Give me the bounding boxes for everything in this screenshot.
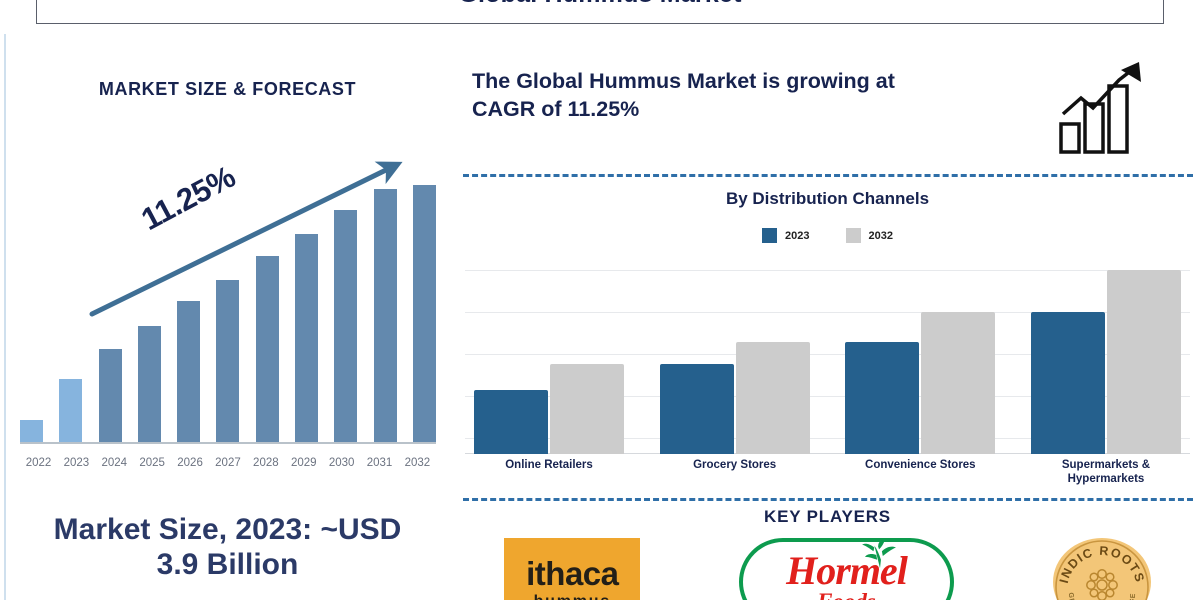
bar-convenience-stores-2032 (921, 312, 995, 454)
indic-roots-logo-box: INDIC ROOTS GREAT TASTE HERITAGE (1053, 538, 1151, 600)
x-label-convenience-stores: Convenience Stores (836, 458, 1004, 487)
bar-group-convenience-stores (836, 312, 1004, 454)
ithaca-logo-line2: hummus (534, 593, 611, 600)
divider-bottom (463, 498, 1193, 501)
x-label-2029: 2029 (285, 457, 322, 469)
infographic-page: Global Hummus Market MARKET SIZE & FOREC… (0, 0, 1200, 600)
x-label-2022: 2022 (20, 457, 57, 469)
parsley-leaf-icon (861, 540, 899, 570)
x-label-2032: 2032 (399, 457, 436, 469)
legend-swatch-2032 (846, 228, 861, 243)
ithaca-logo-line1: ithaca (526, 557, 618, 590)
bar-2024 (99, 349, 122, 442)
x-label-2028: 2028 (247, 457, 284, 469)
market-size-panel: MARKET SIZE & FORECAST 11.25% (0, 26, 455, 600)
key-players-title: KEY PLAYERS (455, 507, 1200, 527)
divider-top (463, 174, 1193, 177)
bar-chart-growth-icon (1055, 58, 1155, 158)
right-panel: The Global Hummus Market is growing at C… (455, 26, 1200, 600)
legend-label-2023: 2023 (785, 230, 809, 242)
page-title: Global Hummus Market (458, 0, 741, 9)
x-label-2031: 2031 (361, 457, 398, 469)
bar-convenience-stores-2023 (845, 342, 919, 454)
legend-item-2032: 2032 (846, 228, 893, 243)
market-size-bars (20, 146, 436, 442)
market-size-heading: MARKET SIZE & FORECAST (0, 79, 455, 100)
indic-roots-logo: INDIC ROOTS GREAT TASTE HERITAGE (1053, 538, 1151, 600)
x-label-2027: 2027 (209, 457, 246, 469)
bar-2026 (177, 301, 200, 442)
bar-grocery-stores-2023 (660, 364, 734, 454)
legend-item-2023: 2023 (762, 228, 809, 243)
hormel-logo-line2: Foods (817, 590, 876, 600)
bar-online-retailers-2032 (550, 364, 624, 454)
ithaca-hummus-logo: ithaca hummus (504, 538, 640, 600)
bar-supermarkets-2023 (1031, 312, 1105, 454)
svg-text:GREAT TASTE HERITAGE: GREAT TASTE HERITAGE (1067, 592, 1137, 600)
cagr-statement-line1: The Global Hummus Market is growing at (472, 68, 1042, 96)
market-size-x-axis-labels: 2022 2023 2024 2025 2026 2027 2028 2029 … (20, 457, 436, 469)
bar-group-grocery-stores (651, 342, 819, 454)
x-label-online-retailers: Online Retailers (465, 458, 633, 487)
market-size-plot-area: 11.25% 2022 2023 (14, 146, 442, 470)
distribution-bar-groups (465, 258, 1190, 454)
bar-supermarkets-2032 (1107, 270, 1181, 454)
bar-2023 (59, 379, 82, 442)
bar-grocery-stores-2032 (736, 342, 810, 454)
x-label-2026: 2026 (172, 457, 209, 469)
x-label-2030: 2030 (323, 457, 360, 469)
legend-swatch-2023 (762, 228, 777, 243)
x-label-2024: 2024 (96, 457, 133, 469)
distribution-channels-chart: Online Retailers Grocery Stores Convenie… (465, 258, 1190, 498)
hormel-foods-logo: Hormel Foods (739, 538, 954, 600)
market-size-footer-line1: Market Size, 2023: ~USD (0, 512, 455, 547)
indic-roots-emblem-icon: INDIC ROOTS GREAT TASTE HERITAGE (1053, 538, 1151, 600)
bar-online-retailers-2023 (474, 390, 548, 454)
ithaca-hummus-logo-box: ithaca hummus (504, 538, 640, 600)
bar-2025 (138, 326, 161, 442)
distribution-chart-title: By Distribution Channels (455, 189, 1200, 209)
bar-2027 (216, 280, 239, 442)
distribution-x-axis-labels: Online Retailers Grocery Stores Convenie… (465, 458, 1190, 487)
market-size-axis-line (20, 442, 436, 444)
bar-2029 (295, 234, 318, 442)
bar-group-online-retailers (465, 364, 633, 454)
bar-2028 (256, 256, 279, 442)
bar-2022 (20, 420, 43, 442)
bar-2030 (334, 210, 357, 442)
x-label-2025: 2025 (134, 457, 171, 469)
key-players-row: ithaca hummus Hormel Foods (455, 538, 1200, 600)
legend-label-2032: 2032 (869, 230, 893, 242)
distribution-legend: 2023 2032 (455, 228, 1200, 243)
market-size-footer-line2: 3.9 Billion (0, 547, 455, 582)
market-size-footer: Market Size, 2023: ~USD 3.9 Billion (0, 512, 455, 583)
cagr-statement-line2: CAGR of 11.25% (472, 96, 1042, 124)
x-label-2023: 2023 (58, 457, 95, 469)
bar-2032 (413, 185, 436, 442)
page-title-box: Global Hummus Market (36, 0, 1164, 24)
bar-group-supermarkets-hypermarkets (1022, 270, 1190, 454)
x-label-grocery-stores: Grocery Stores (651, 458, 819, 487)
bar-2031 (374, 189, 397, 442)
x-label-supermarkets-hypermarkets: Supermarkets & Hypermarkets (1022, 458, 1190, 487)
hormel-foods-logo-box: Hormel Foods (739, 538, 954, 600)
market-size-forecast-chart: 11.25% 2022 2023 (14, 146, 442, 496)
cagr-statement: The Global Hummus Market is growing at C… (472, 68, 1042, 124)
